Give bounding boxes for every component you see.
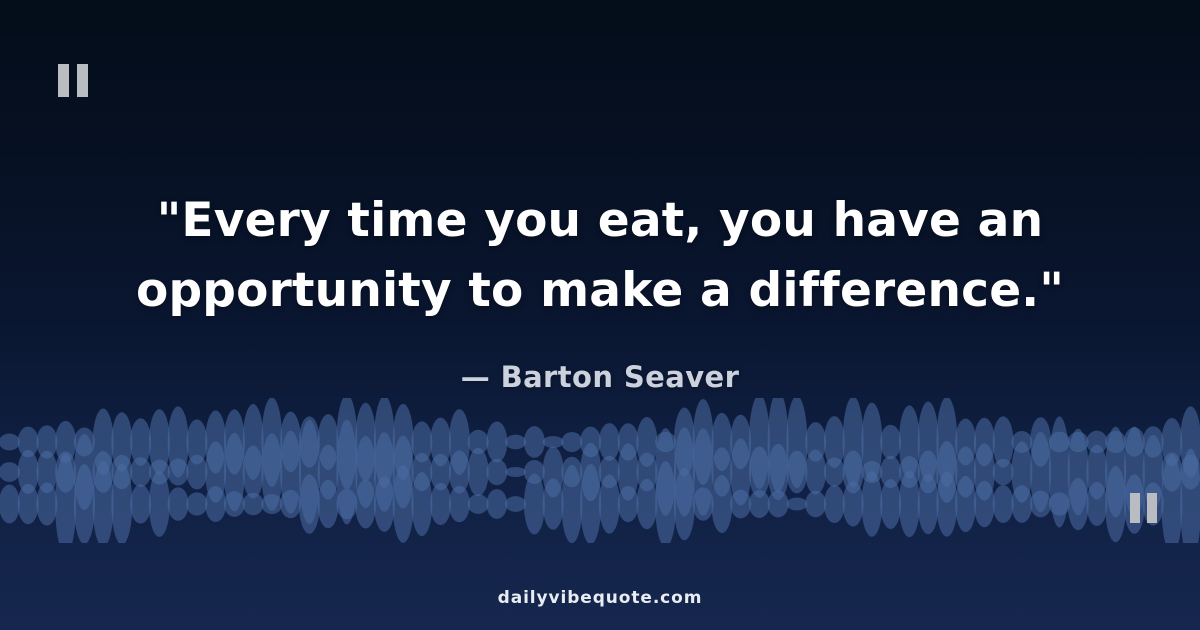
quote-mark-bar [1147, 493, 1157, 523]
quote-line-1: "Every time you eat, you have an [100, 186, 1100, 256]
quote-text: "Every time you eat, you have an opportu… [100, 186, 1100, 326]
quote-mark-bar [1130, 493, 1140, 523]
quote-attribution: — Barton Seaver [461, 360, 740, 394]
quote-line-2: opportunity to make a difference." [100, 256, 1100, 326]
quote-mark-icon-top [58, 64, 88, 97]
quote-card: "Every time you eat, you have an opportu… [0, 0, 1200, 630]
quote-content: "Every time you eat, you have an opportu… [0, 0, 1200, 630]
quote-mark-bar [58, 64, 69, 97]
quote-mark-icon-bottom [1130, 493, 1157, 523]
footer-site-url: dailyvibequote.com [0, 588, 1200, 608]
quote-mark-bar [77, 64, 88, 97]
